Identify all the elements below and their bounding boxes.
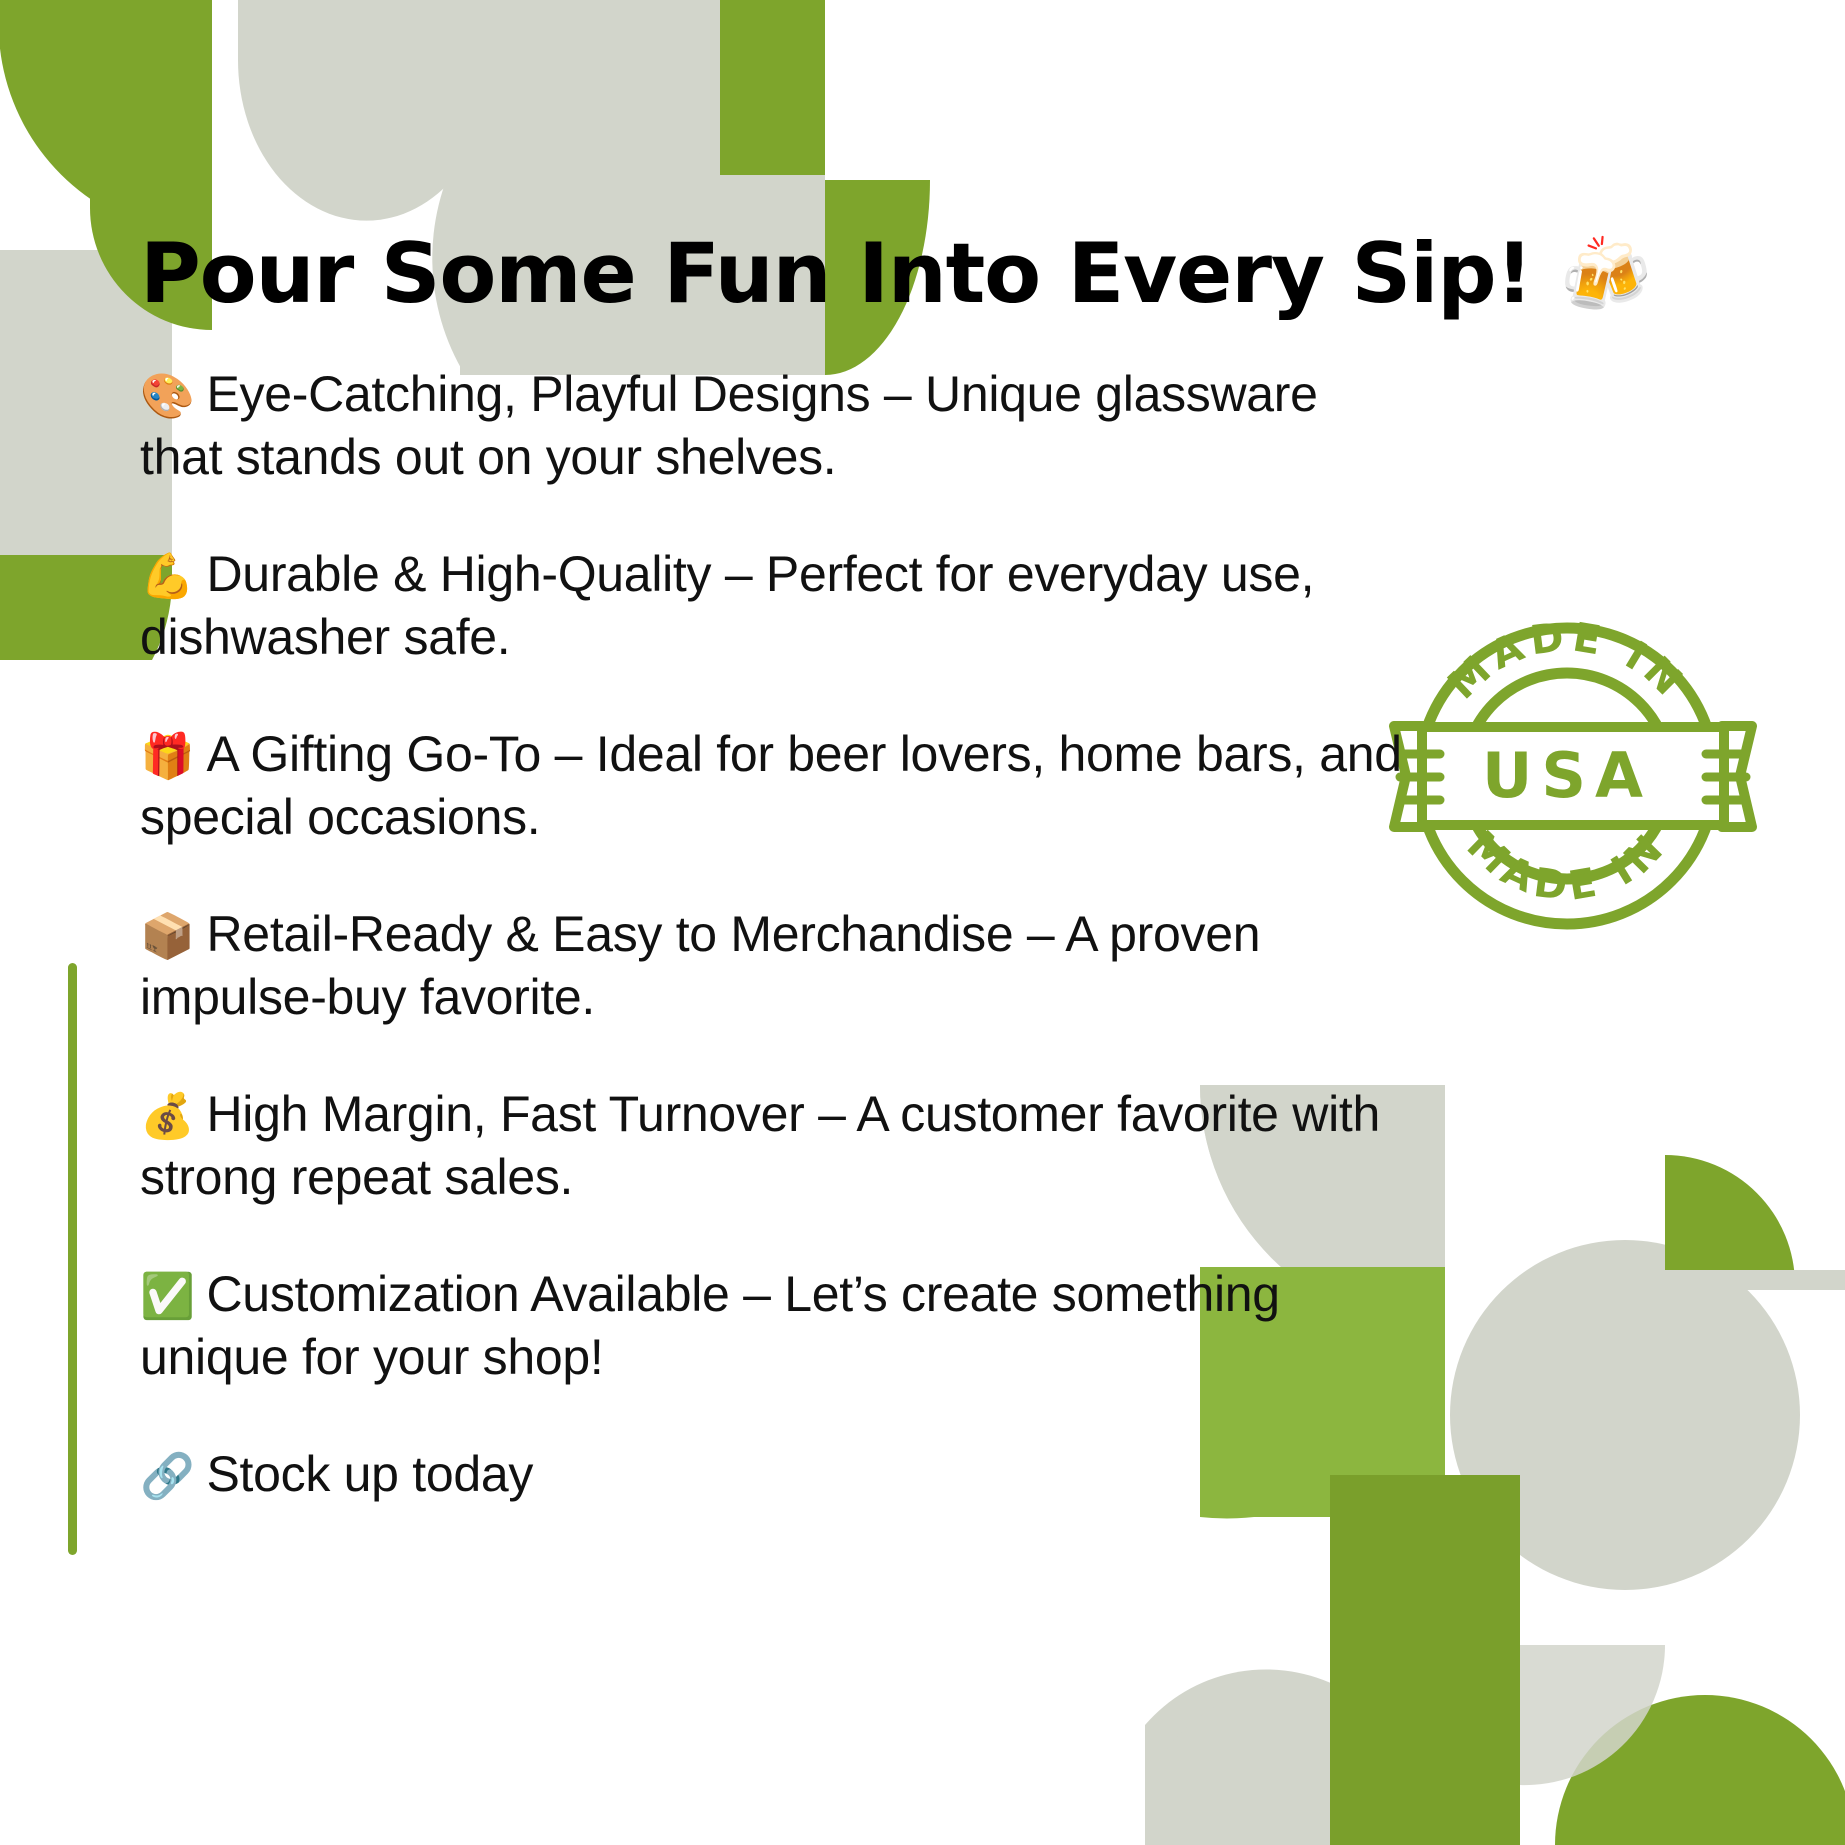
list-item: ✅Customization Available – Let’s create … bbox=[140, 1263, 1405, 1389]
list-item-text: High Margin, Fast Turnover – A customer … bbox=[140, 1086, 1380, 1205]
list-item: 🎁A Gifting Go-To – Ideal for beer lovers… bbox=[140, 723, 1450, 849]
clinking-beer-mugs-icon: 🍻 bbox=[1560, 233, 1652, 319]
list-item: 📦Retail-Ready & Easy to Merchandise – A … bbox=[140, 903, 1370, 1029]
check-mark-button-icon: ✅ bbox=[140, 1272, 195, 1321]
content-area: Pour Some Fun Into Every Sip! 🍻 🎨Eye-Cat… bbox=[140, 232, 1700, 1506]
money-bag-icon: 💰 bbox=[140, 1092, 195, 1141]
package-icon: 📦 bbox=[140, 912, 195, 961]
promo-flyer: MADE IN MADE IN USA Pour Some Fun Into E… bbox=[0, 0, 1845, 1845]
page-title-text: Pour Some Fun Into Every Sip! bbox=[140, 225, 1532, 322]
list-item-text: Stock up today bbox=[207, 1446, 534, 1502]
list-item-text: Durable & High-Quality – Perfect for eve… bbox=[140, 546, 1314, 665]
list-item-text: Eye-Catching, Playful Designs – Unique g… bbox=[140, 366, 1318, 485]
list-item: 🎨Eye-Catching, Playful Designs – Unique … bbox=[140, 363, 1340, 489]
list-item-text: Retail-Ready & Easy to Merchandise – A p… bbox=[140, 906, 1260, 1025]
list-item-text: A Gifting Go-To – Ideal for beer lovers,… bbox=[140, 726, 1402, 845]
page-title: Pour Some Fun Into Every Sip! 🍻 bbox=[140, 232, 1700, 317]
list-item: 🔗Stock up today bbox=[140, 1443, 1405, 1506]
benefit-list: 🎨Eye-Catching, Playful Designs – Unique … bbox=[140, 363, 1700, 1506]
wrapped-gift-icon: 🎁 bbox=[140, 732, 195, 781]
artist-palette-icon: 🎨 bbox=[140, 372, 195, 421]
list-item: 💰High Margin, Fast Turnover – A customer… bbox=[140, 1083, 1530, 1209]
list-item-text: Customization Available – Let’s create s… bbox=[140, 1266, 1280, 1385]
flexed-biceps-icon: 💪 bbox=[140, 552, 195, 601]
list-item: 💪Durable & High-Quality – Perfect for ev… bbox=[140, 543, 1450, 669]
link-icon: 🔗 bbox=[140, 1452, 195, 1501]
accent-bar bbox=[68, 963, 77, 1555]
